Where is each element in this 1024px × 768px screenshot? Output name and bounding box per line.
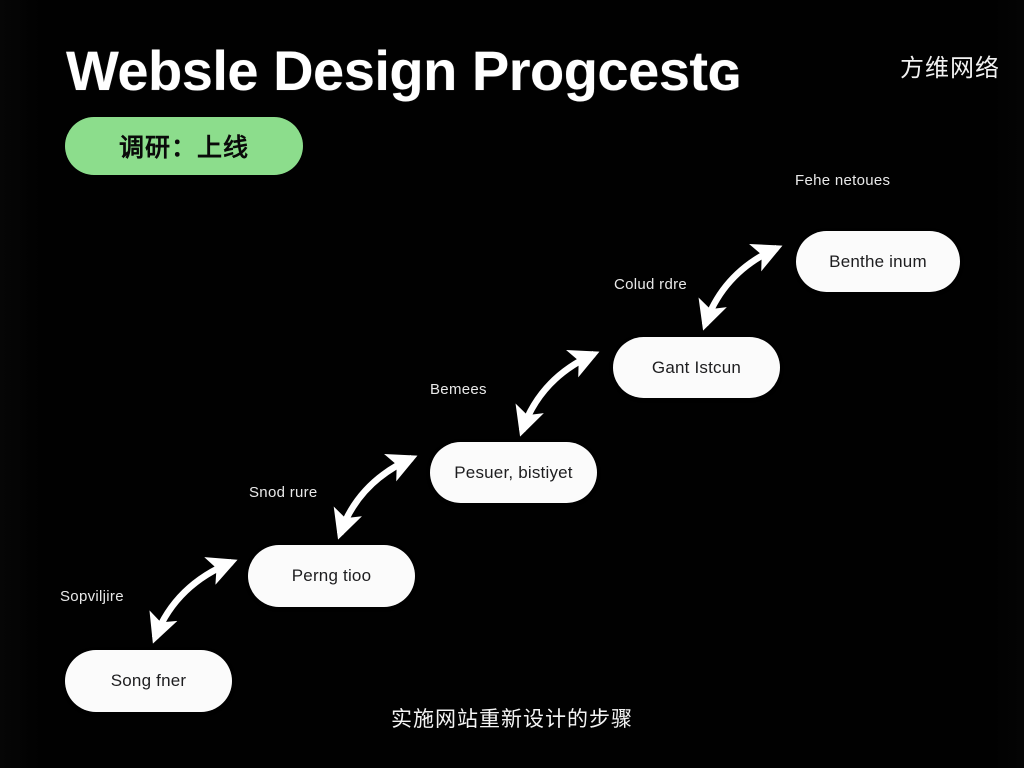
flow-node[interactable]: Pesuer, bistiyet xyxy=(430,442,597,503)
edge-label: Fehe netoues xyxy=(795,172,890,189)
edge-arrow-4 xyxy=(705,248,777,325)
edge-label: Bemees xyxy=(430,381,487,398)
flow-node-label: Gant Istcun xyxy=(652,358,741,378)
edge-arrow-3 xyxy=(522,354,594,431)
edge-label: Snod rure xyxy=(249,484,318,501)
edge-label: Sopviljire xyxy=(60,588,124,605)
diagram-stage: Song fner Perng tioo Pesuer, bistiyet Ga… xyxy=(0,0,1024,768)
edge-arrow-1 xyxy=(155,562,232,638)
flow-node-label: Song fner xyxy=(111,671,187,691)
slide-caption: 实施网站重新设计的步骤 xyxy=(0,703,1024,733)
flow-node-label: Perng tioo xyxy=(292,566,372,586)
edge-arrow-2 xyxy=(340,458,412,534)
flow-node[interactable]: Perng tioo xyxy=(248,545,415,607)
flow-node-label: Pesuer, bistiyet xyxy=(454,463,572,483)
flow-node[interactable]: Benthe inum xyxy=(796,231,960,292)
flow-node[interactable]: Gant Istcun xyxy=(613,337,780,398)
slide-canvas: Websle Design Progcestɢ 调研：上线 方维网络 xyxy=(0,0,1024,768)
edge-label: Colud rdre xyxy=(614,276,687,293)
flow-node-label: Benthe inum xyxy=(829,252,927,272)
